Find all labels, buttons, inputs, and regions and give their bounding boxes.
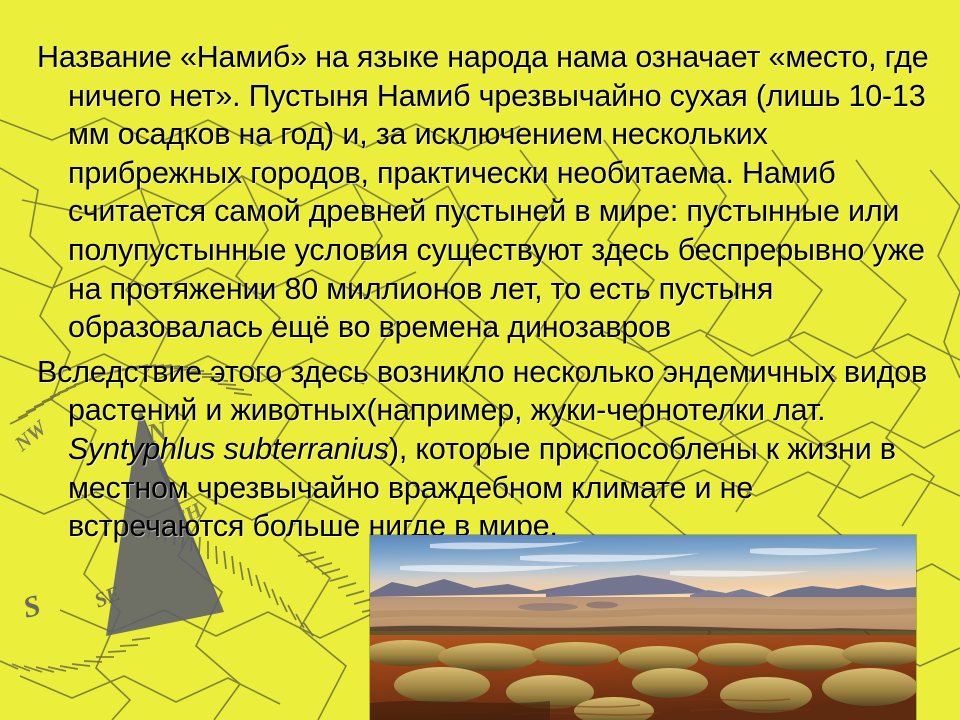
species-name-latin: Syntyphlus subterranius	[68, 432, 389, 466]
paragraph-1: Название «Намиб» на языке народа нама оз…	[30, 38, 930, 347]
paragraph-2-text-before: Вследствие этого здесь возникло нескольк…	[37, 355, 927, 428]
desert-landscape-photo	[370, 535, 916, 720]
photo-bottom-shadow	[370, 701, 550, 720]
paragraph-2: Вследствие этого здесь возникло нескольк…	[30, 353, 930, 546]
paragraph-1-text: Название «Намиб» на языке народа нама оз…	[37, 40, 929, 344]
